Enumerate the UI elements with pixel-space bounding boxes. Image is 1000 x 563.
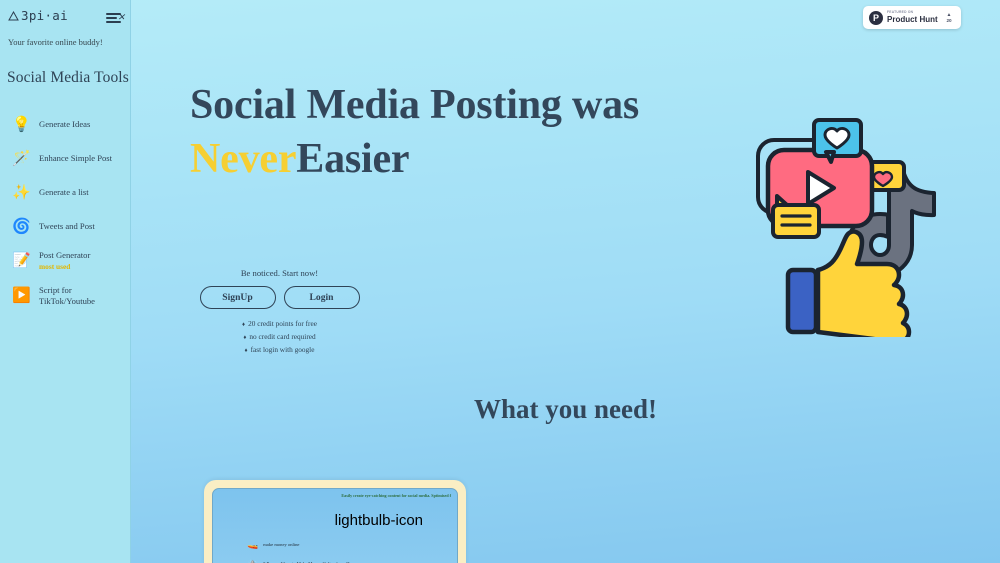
hero-title-highlight: Never [190, 136, 296, 182]
sidebar-item-tweets-and-post[interactable]: 🌀 Tweets and Post [0, 209, 130, 243]
cta-kicker: Be noticed. Start now! [192, 268, 367, 278]
hamburger-menu-icon[interactable]: ✕ [106, 11, 122, 25]
tweet-icon: 🌀 [12, 217, 31, 236]
lightbulb-icon: lightbulb-icon [335, 513, 423, 528]
hero-title-line1: Social Media Posting was [190, 82, 639, 128]
triangle-logo-icon [8, 11, 19, 21]
mockup-banner-text: Easily create eye-catching content for s… [341, 493, 451, 498]
app-logo-text: 3pi·ai [21, 8, 68, 23]
sidebar: 3pi·ai ✕ Your favorite online buddy! Soc… [0, 0, 131, 563]
signup-button[interactable]: SignUp [200, 286, 276, 309]
sidebar-item-generate-ideas[interactable]: 💡 Generate Ideas [0, 107, 130, 141]
sidebar-header: 3pi·ai ✕ [0, 0, 130, 25]
sidebar-item-text: Post Generator [39, 250, 90, 260]
mockup-row: ⛰️ 5 Proven Ways to Make Money Online fr… [247, 558, 357, 563]
app-logo-icon: ⛰️ [247, 558, 258, 563]
mockup-row-text: make money online [263, 542, 299, 547]
perk-item: no credit card required [192, 331, 367, 344]
perks-list: 20 credit points for free no credit card… [192, 318, 367, 357]
play-button-icon: ▶️ [12, 286, 31, 305]
memo-icon: 📝 [12, 251, 31, 270]
sidebar-item-label: Generate Ideas [39, 119, 90, 130]
cta-block: Be noticed. Start now! SignUp Login 20 c… [192, 268, 367, 357]
lightbulb-icon: 💡 [12, 115, 31, 134]
social-media-illustration [752, 112, 964, 337]
sidebar-item-label: Generate a list [39, 187, 89, 198]
most-used-badge: most used [39, 262, 90, 271]
hero-title-rest: Easier [296, 136, 409, 182]
sidebar-item-label: Tweets and Post [39, 221, 95, 232]
main-content: Social Media Posting was NeverEasier Be … [131, 0, 1000, 563]
section-title: What you need! [131, 394, 1000, 425]
sidebar-item-label: Enhance Simple Post [39, 153, 112, 164]
login-button[interactable]: Login [284, 286, 360, 309]
sidebar-item-label: Script for TikTok/Youtube [39, 285, 124, 306]
sparkles-icon: ✨ [12, 183, 31, 202]
sidebar-nav: 💡 Generate Ideas 🪄 Enhance Simple Post ✨… [0, 107, 130, 313]
perk-item: 20 credit points for free [192, 318, 367, 331]
sidebar-item-label: Post Generator most used [39, 250, 90, 271]
page-title: Social Media Posting was NeverEasier [190, 78, 639, 186]
user-avatar-icon: 🚤 [247, 539, 258, 549]
perk-item: fast login with google [192, 344, 367, 357]
cta-buttons: SignUp Login [192, 286, 367, 309]
sidebar-item-script-for-tiktok-youtube[interactable]: ▶️ Script for TikTok/Youtube [0, 278, 130, 313]
magic-wand-icon: 🪄 [12, 149, 31, 168]
sidebar-item-enhance-simple-post[interactable]: 🪄 Enhance Simple Post [0, 141, 130, 175]
app-logo[interactable]: 3pi·ai [8, 8, 68, 23]
product-mockup: Easily create eye-catching content for s… [204, 480, 466, 563]
mockup-screen: Easily create eye-catching content for s… [212, 488, 458, 563]
sidebar-item-generate-a-list[interactable]: ✨ Generate a list [0, 175, 130, 209]
sidebar-tagline: Your favorite online buddy! [0, 25, 130, 47]
mockup-row: 🚤 make money online [247, 539, 299, 549]
sidebar-heading: Social Media Tools [0, 47, 130, 87]
sidebar-item-post-generator[interactable]: 📝 Post Generator most used [0, 243, 130, 278]
